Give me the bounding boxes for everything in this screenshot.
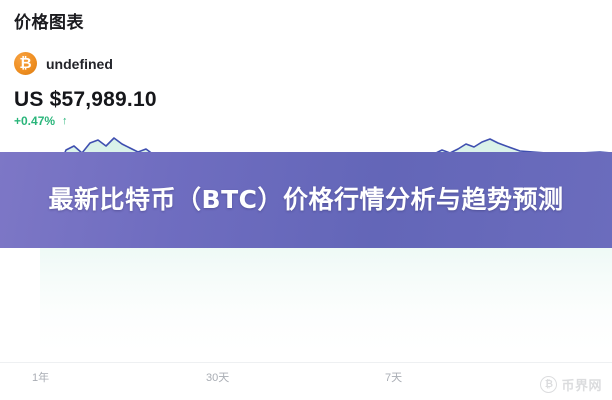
- range-tab-1y[interactable]: 1年: [32, 369, 49, 385]
- article-title-overlay: 最新比特币（BTC）价格行情分析与趋势预测: [0, 152, 612, 248]
- price-chart-screenshot: 价格图表 ₿ undefined US $57,989.10 +0.47% ↑ …: [0, 0, 612, 400]
- range-tab-7d[interactable]: 7天: [385, 369, 402, 385]
- watermark: ₿ 币界网: [540, 375, 602, 394]
- price-change-percent: +0.47%: [14, 114, 55, 128]
- arrow-up-icon: ↑: [62, 115, 68, 127]
- price-change: +0.47% ↑: [14, 114, 68, 128]
- watermark-coin-icon: ₿: [540, 376, 557, 393]
- price-value: US $57,989.10: [14, 88, 157, 112]
- page-title: 价格图表: [14, 8, 84, 33]
- coin-row: ₿ undefined: [14, 52, 113, 75]
- range-tab-bar: 1年 30天 7天: [0, 362, 612, 400]
- range-tab-30d[interactable]: 30天: [206, 369, 229, 385]
- watermark-text: 币界网: [561, 375, 602, 394]
- article-headline: 最新比特币（BTC）价格行情分析与趋势预测: [49, 184, 564, 216]
- bitcoin-icon: ₿: [14, 52, 37, 75]
- coin-name: undefined: [46, 56, 113, 72]
